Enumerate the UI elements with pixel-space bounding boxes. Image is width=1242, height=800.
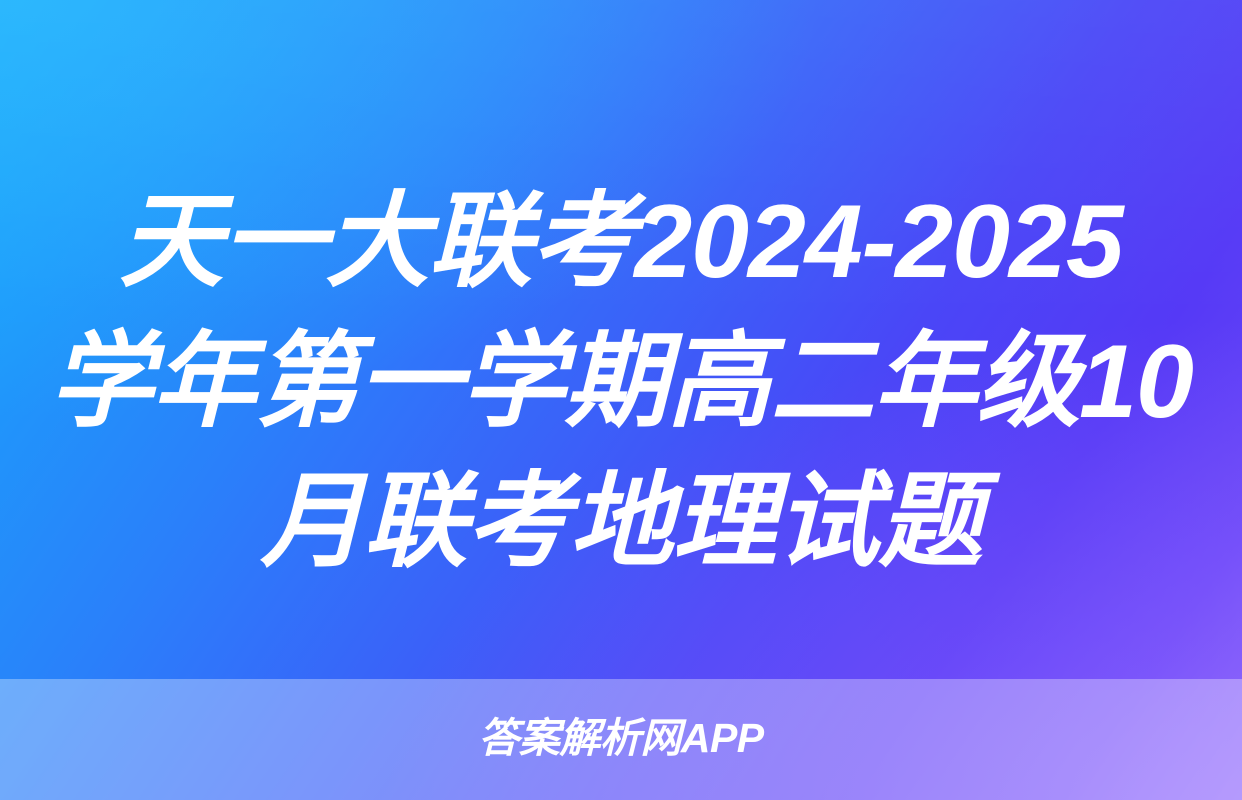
watermark-label: 答案解析网APP [478,718,763,759]
poster-canvas: 天一大联考2024-2025 学年第一学期高二年级10 月联考地理试题 答案解析… [0,0,1242,800]
poster-title: 天一大联考2024-2025 学年第一学期高二年级10 月联考地理试题 [0,172,1242,592]
title-line-3: 月联考地理试题 [48,452,1194,592]
title-line-1: 天一大联考2024-2025 [48,172,1194,312]
title-line-2: 学年第一学期高二年级10 [48,312,1194,452]
watermark-band: 答案解析网APP [0,679,1242,800]
